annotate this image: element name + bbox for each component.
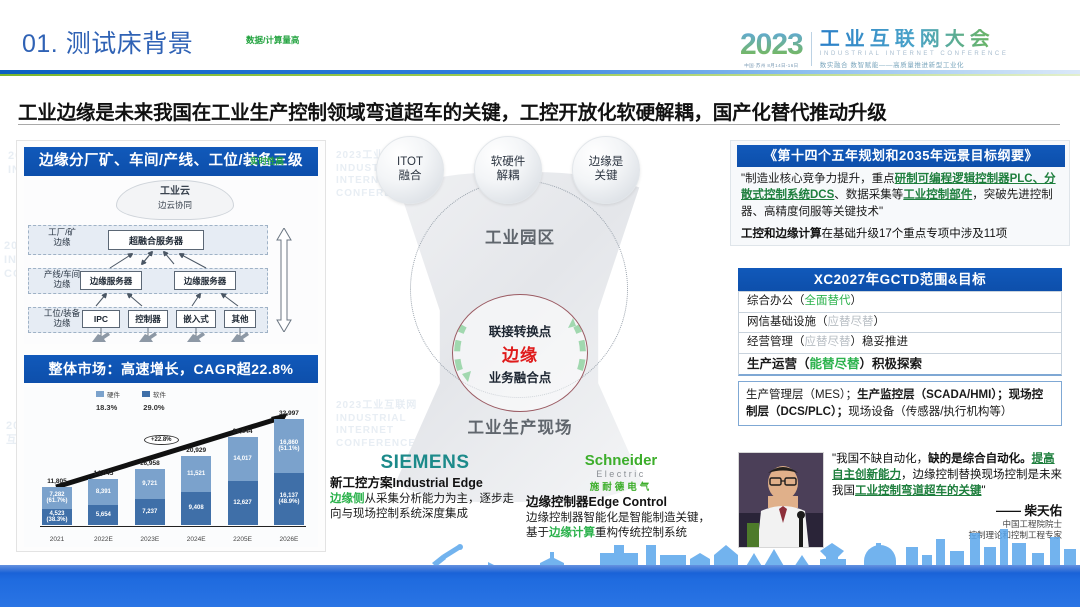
quote-part-1: "我国不缺自动化， [832,453,928,465]
xc-row-suffix: ） [874,316,886,328]
bar-column: 14,045 8,391 5,654 [86,470,120,525]
quote-text: "我国不缺自动化，缺的是综合自动化。提高自主创新能力，边缘控制替换现场控制是未来… [832,452,1062,499]
quote-attribution: —— 柴天佑 [832,500,1062,519]
logo-slogan: 数实融合 数智赋能——高质量推进新型工业化 [820,59,1009,69]
bubble-line2: 融合 [398,170,421,182]
bar-total-label: 26,644 [233,428,253,435]
bubble-hw-sw-decoupling: 软硬件解耦 [474,136,542,204]
headline: 工业边缘是未来我国在工业生产控制领域弯道超车的关键，工控开放化软硬解耦，国产化替… [18,96,1064,125]
bubble-line2: 关键 [595,170,618,182]
bar-segment-hardware: 7,282(61.7%) [42,487,72,509]
center-diagram: ITOT融合 软硬件解耦 边缘是关键 工业园区 工业生产现场 联接转换点 边缘 … [330,134,722,554]
vendor-siemens: SIEMENS 新工控方案Industrial Edge 边缘侧从采集分析能力为… [330,452,520,541]
xc-row-infra: 网信基础设施（应替尽替） [738,313,1062,334]
schneider-logo-cn: 施耐德电气 [526,479,716,493]
legend-item-hardware: 硬件 [96,389,120,399]
bar-segment-hardware: 14,017 [228,437,258,481]
bar-segment-hardware: 8,391 [88,479,118,505]
control-layer-box: 生产管理层（MES）；生产监控层（SCADA/HMI）；现场控制层（DCS/PL… [738,381,1062,426]
xc2027-card: XC2027年GCTD范围&目标 综合办公（全面替代） 网信基础设施（应替尽替）… [738,268,1062,426]
vendor-schneider: Schneider Electric 施耐德电气 边缘控制器Edge Contr… [526,452,716,541]
bar-stack: 14,017 12,627 [228,437,258,525]
header-rule-green [0,74,1080,76]
xc-row-office: 综合办公（全面替代） [738,291,1062,313]
bar-segment-hardware: 11,521 [181,456,211,492]
xc-row-tag: 应替尽替 [805,336,851,348]
conference-logo: 2023 中国·苏州 8月14日-16日 工业互联网大会 INDUSTRIAL … [740,26,1070,72]
siemens-title: 新工控方案Industrial Edge [330,476,520,492]
xc-row-text: 经营管理（ [747,336,805,348]
xc-row-tag: 全面替代 [805,295,851,307]
bar-segment-hardware: 9,721 [135,469,165,499]
bar-segment-hardware: 16,860(51.1%) [274,419,304,473]
tier-connector-lines [24,180,318,344]
bubble-line2: 解耦 [497,170,520,182]
bar-total-label: 14,045 [93,470,113,477]
core-bottom-label: 业务融合点 [489,367,552,386]
logo-name-en: INDUSTRIAL INTERNET CONFERENCE [820,51,1009,57]
bar-total-label: 32,997 [279,410,299,417]
bar-segment-software: 16,137(48.9%) [274,473,304,525]
bar-group: 11,805 7,282(61.7%) 4,523(38.3%) 14,045 … [40,407,306,525]
quote-end: " [982,485,986,497]
bottom-blue-band [0,565,1080,607]
page-title: 01. 测试床背景 [22,24,193,60]
xc-row-text: 网信基础设施（ [747,316,828,328]
bar-stack: 7,282(61.7%) 4,523(38.3%) [42,487,72,525]
legend-label-software: 软件 [153,389,166,399]
logo-year: 2023 [740,30,803,60]
schneider-logo: Schneider Electric 施耐德电气 [526,452,716,493]
bar-stack: 16,860(51.1%) 16,137(48.9%) [274,419,304,525]
schneider-logo-main: Schneider [526,452,716,469]
bubble-edge-is-key: 边缘是关键 [572,136,640,204]
five-year-plan-card: 《第十四个五年规划和2035年远景目标纲要》 "制造业核心竞争力提升，重点研制可… [730,140,1070,246]
bar-total-label: 20,929 [186,447,206,454]
priority-axis-arrow [276,228,292,332]
xc-row-text: 生产运营（ [747,357,810,371]
axis-label-realtime: 实时性高 [250,155,284,167]
axis-label-compute: 数据/计算量高 [246,34,299,46]
bar-total-label: 16,958 [140,460,160,467]
bubble-itot-fusion: ITOT融合 [376,136,444,204]
slide-header: 01. 测试床背景 2023 中国·苏州 8月14日-16日 工业互联网大会 I… [0,0,1080,78]
quote-bold: 缺的是综合自动化。 [928,453,1032,465]
xc-row-tag: 应替尽替 [828,316,874,328]
bar-stack: 11,521 9,408 [181,456,211,525]
bar-column: 32,997 16,860(51.1%) 16,137(48.9%) [272,410,306,525]
legend-swatch-hardware [96,391,104,397]
label-industrial-park: 工业园区 [430,224,610,248]
plan-card-body: "制造业核心竞争力提升，重点研制可编程逻辑控制器PLC、分散式控制系统DCS、数… [741,171,1063,220]
xc-row-management: 经营管理（应替尽替）稳妥推进 [738,333,1062,354]
xc-row-text: 综合办公（ [747,295,805,307]
bubble-line1: 软硬件 [491,156,526,168]
market-bar-chart: 硬件 软件 18.3% 29.0% +22.8% 11,805 7,282(61… [24,387,318,547]
market-chart-title: 整体市场：高速增长，CAGR超22.8% [24,355,318,383]
bar-column: 16,958 9,721 7,237 [133,460,167,525]
schneider-title: 边缘控制器Edge Control [526,495,716,511]
xc-row-tag: 能替尽替 [810,357,860,371]
chart-legend: 硬件 软件 [96,389,166,399]
legend-swatch-software [142,391,150,397]
bar-segment-software: 9,408 [181,492,211,525]
plan-highlight-2: 工业控制部件 [903,189,972,201]
vendor-blocks: SIEMENS 新工控方案Industrial Edge 边缘侧从采集分析能力为… [330,452,722,541]
quote-green-2: 工业控制弯道超车的关键 [855,485,982,497]
layer-text-1: 生产管理层（MES）； [746,389,857,401]
bar-stack: 8,391 5,654 [88,479,118,525]
plan-mid-1: 、数据采集等 [834,189,903,201]
bar-column: 20,929 11,521 9,408 [179,447,213,525]
core-top-label: 联接转换点 [489,321,552,340]
siemens-body: 边缘侧从采集分析能力为主，逐步走向与现场控制系统深度集成 [330,492,520,522]
core-center-label: 边缘 [502,341,538,366]
bar-segment-software: 4,523(38.3%) [42,509,72,525]
bar-stack: 9,721 7,237 [135,469,165,525]
logo-name-cn: 工业互联网大会 [820,29,1009,49]
plan-footer-rest: 在基础升级17个重点专项中涉及11项 [822,228,1008,240]
layer-text-2: 现场设备（传感器/执行机构等） [848,406,1012,418]
plan-card-footer: 工控和边缘计算在基础升级17个重点专项中涉及11项 [741,225,1063,241]
plan-footer-bold: 工控和边缘计算 [741,228,822,240]
plan-card-title: 《第十四个五年规划和2035年远景目标纲要》 [737,145,1065,167]
slide-canvas: 2023工业互联网大会 INDUSTRIAL INTERNET 2023 INT… [0,0,1080,607]
legend-label-hardware: 硬件 [107,389,120,399]
xc-row-suffix: ） [851,295,863,307]
chart-baseline [40,526,306,528]
siemens-highlight: 边缘侧 [330,493,365,505]
logo-year-subtitle: 中国·苏州 8月14日-16日 [744,63,798,69]
logo-divider [811,32,812,66]
bar-column: 11,805 7,282(61.7%) 4,523(38.3%) [40,478,74,525]
xc-row-suffix: ）稳妥推进 [851,336,909,348]
xc-card-title: XC2027年GCTD范围&目标 [738,268,1062,291]
siemens-logo: SIEMENS [330,452,520,474]
legend-item-software: 软件 [142,389,166,399]
headline-underline [18,124,1060,125]
tier-diagram: 工业云 边云协同 工厂/矿边缘 产线/车间边缘 工位/装备边缘 超融合服务器 边… [24,180,318,344]
core-edge-node: 联接转换点 边缘 业务融合点 [452,294,588,412]
plan-quote-1: "制造业核心竞争力提升，重点 [741,173,895,185]
bar-column: 26,644 14,017 12,627 [226,428,260,525]
xc-row-production: 生产运营（能替尽替）积极探索 [738,354,1062,377]
bar-segment-software: 12,627 [228,481,258,525]
bar-segment-software: 5,654 [88,505,118,525]
schneider-logo-sub: Electric [526,469,716,479]
bubble-line1: ITOT [397,156,423,168]
right-panel: 《第十四个五年规划和2035年远景目标纲要》 "制造业核心竞争力提升，重点研制可… [730,140,1070,552]
bar-segment-software: 7,237 [135,499,165,525]
bubble-line1: 边缘是 [589,156,624,168]
xc-row-suffix: ）积极探索 [860,357,923,371]
bar-total-label: 11,805 [47,478,67,485]
